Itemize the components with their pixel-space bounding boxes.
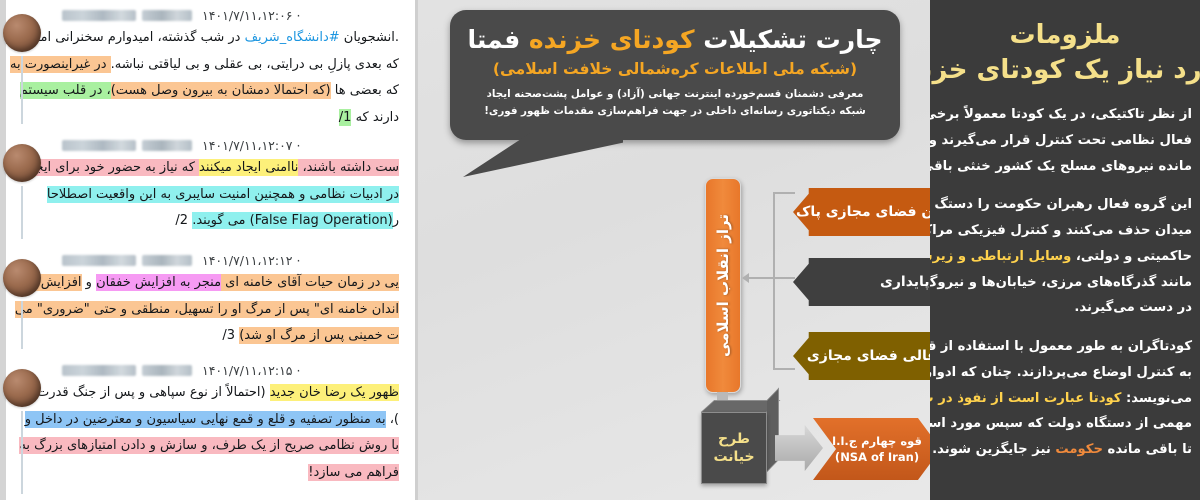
chart-header-banner: چارت تشکیلات کودتای خزنده فمتا (شبکه ملی… bbox=[450, 10, 900, 140]
cube-line2: خیانت bbox=[713, 448, 754, 466]
tweet-body: یی در زمان حیات آقای خامنه ای منجر به اف… bbox=[6, 268, 403, 350]
left-panel-title-line2: مورد نیاز یک کودتای خزنده bbox=[930, 53, 1200, 88]
banner-arrow-3-label: اعضای شورای عالی فضای مجازی bbox=[807, 348, 930, 364]
highlighted-text: ست داشته باشند، bbox=[298, 159, 399, 176]
highlighted-text: یی در زمان حیات آقای خامنه ای bbox=[221, 274, 399, 291]
banner-arrow-1-label: جمعیت توسعه‌گران فضای مجازی پاک bbox=[796, 204, 930, 220]
tweet-line: که بعضی ها (که احتمالا دمشان به بیرون وص… bbox=[6, 78, 399, 105]
bracket-bottom bbox=[773, 368, 795, 370]
tweet-text: که بعضی ها bbox=[331, 83, 399, 98]
tweet-header: ۱۴۰۱/۷/۱۱،۱۲:۰۷ · bbox=[6, 138, 403, 153]
highlighted-text: ، در قلب سیستم bbox=[20, 82, 111, 99]
chart-description-line2: شبکه دیکتاتوری رسانه‌ای داخلی در جهت فرا… bbox=[450, 103, 900, 120]
tweet-line: یی در زمان حیات آقای خامنه ای منجر به اف… bbox=[6, 270, 399, 297]
avatar[interactable] bbox=[3, 369, 41, 407]
paragraph-2-line-1: این گروه فعال رهبران حکومت را دستگ bbox=[930, 192, 1192, 218]
thread-connector-line bbox=[21, 301, 23, 349]
chevron-step-1-line1: قوه چهارم ج.ا.ا bbox=[832, 433, 922, 449]
paragraph-3-line-3: می‌نویسد: کودتا عبارت است از نفوذ در ب bbox=[930, 386, 1192, 412]
highlighted-text: ت خمینی پس از مرگ او شد) bbox=[239, 327, 399, 344]
tweet-timestamp: ۱۴۰۱/۷/۱۱،۱۲:۰۶ · bbox=[202, 8, 300, 23]
tweet-author-handle-redacted[interactable] bbox=[142, 140, 192, 151]
tweet-thread-panel: ۱۴۰۱/۷/۱۱،۱۲:۰۶ ·.انشجویان #دانشگاه_شریف… bbox=[0, 0, 415, 500]
banner-arrow-1: جمعیت توسعه‌گران فضای مجازی پاک bbox=[793, 188, 930, 236]
chart-title-part3: فمتا bbox=[467, 25, 520, 54]
tweet-author-name-redacted[interactable] bbox=[62, 365, 136, 376]
tweet-body: .انشجویان #دانشگاه_شریف در شب گذشته، امی… bbox=[6, 23, 403, 132]
tweet-item[interactable]: ۱۴۰۱/۷/۱۱،۱۲:۱۵ ·ظهور یک رضا خان جدید (ا… bbox=[0, 355, 407, 500]
tweet-line: ر(False Flag Operation) می گویند. 2/ bbox=[6, 208, 399, 235]
tweet-line: ظهور یک رضا خان جدید (احتمالاً از نوع سپ… bbox=[6, 380, 399, 407]
vertical-bar-label: تراز انقلاب اسلامی bbox=[714, 214, 732, 357]
bracket-vertical bbox=[773, 192, 775, 370]
highlighted-text: که نیاز به حضور خود برای ایجاد bbox=[26, 159, 199, 176]
thread-connector-line bbox=[21, 411, 23, 494]
bracket-mid bbox=[773, 277, 795, 279]
tweet-line: ست داشته باشند، ناامنی ایجاد میکنند که ن… bbox=[6, 155, 399, 182]
chart-description-line1: معرفی دشمنان قسم‌خورده اینترنت جهانی (آز… bbox=[450, 86, 900, 103]
highlighted-text: ظهور یک رضا خان جدید bbox=[270, 384, 399, 401]
paragraph-1: از نظر تاکتیکی، در یک کودتا معمولاً برخی… bbox=[930, 102, 1192, 179]
paragraph-3: کودتاگران به طور معمول با استفاده از قد … bbox=[930, 334, 1192, 463]
tweet-text: در شب گذشته، امیدوارم سخنرانی امروز در bbox=[6, 30, 245, 45]
tweet-line: )، به منظور تصفیه و قلع و قمع نهایی سیاس… bbox=[6, 407, 399, 434]
chevron-step-1-text: قوه چهارم ج.ا.ا (NSA of Iran) bbox=[832, 433, 922, 465]
p3-l3-plain: می‌نویسد: bbox=[1121, 391, 1192, 406]
tweet-text: و bbox=[82, 275, 97, 290]
chart-title: چارت تشکیلات کودتای خزنده فمتا bbox=[450, 24, 900, 55]
tweet-text: 3/ bbox=[222, 328, 239, 343]
highlighted-text: (که احتمالا دمشان به بیرون وصل هست) bbox=[111, 82, 331, 99]
tweet-timestamp: ۱۴۰۱/۷/۱۱،۱۲:۰۷ · bbox=[202, 138, 300, 153]
tweet-item[interactable]: ۱۴۰۱/۷/۱۱،۱۲:۰۷ ·ست داشته باشند، ناامنی … bbox=[0, 130, 407, 245]
chart-title-part1: چارت تشکیلات bbox=[695, 25, 883, 54]
paragraph-2-line-4: مانند گذرگاه‌های مرزی، خیابان‌ها و نیروگ bbox=[930, 270, 1192, 296]
banner-arrow-2-label: جبهه پایداری bbox=[880, 274, 930, 290]
p3-l5-b: نیز جایگزین شوند. bbox=[932, 442, 1055, 457]
highlighted-text: به منظور تصفیه و قلع و قمع نهایی سیاسیون… bbox=[25, 411, 386, 428]
highlighted-text: (False Flag Operation) می گویند. bbox=[192, 212, 393, 229]
tweet-author-handle-redacted[interactable] bbox=[142, 10, 192, 21]
tweet-body: ظهور یک رضا خان جدید (احتمالاً از نوع سپ… bbox=[6, 378, 403, 487]
paragraph-2-line-5: در دست می‌گیرند. bbox=[930, 295, 1192, 321]
tweet-line: دارند که 1/ bbox=[6, 105, 399, 132]
thread-connector-line bbox=[21, 56, 23, 124]
paragraph-3-line-5: تا باقی مانده حکومت نیز جایگزین شوند. bbox=[930, 437, 1192, 463]
tweet-author-name-redacted[interactable] bbox=[62, 140, 136, 151]
chart-panel: چارت تشکیلات کودتای خزنده فمتا (شبکه ملی… bbox=[415, 0, 930, 500]
tweet-timestamp: ۱۴۰۱/۷/۱۱،۱۲:۱۵ · bbox=[202, 363, 300, 378]
paragraph-2: این گروه فعال رهبران حکومت را دستگ میدان… bbox=[930, 192, 1192, 321]
tweet-header: ۱۴۰۱/۷/۱۱،۱۲:۰۶ · bbox=[6, 8, 403, 23]
hashtag-link[interactable]: #دانشگاه_شریف bbox=[245, 30, 340, 45]
tweet-author-handle-redacted[interactable] bbox=[142, 365, 192, 376]
tweet-author-handle-redacted[interactable] bbox=[142, 255, 192, 266]
chevron-step-1-line2: (NSA of Iran) bbox=[832, 449, 922, 465]
tweet-line: ت خمینی پس از مرگ او شد) 3/ bbox=[6, 323, 399, 350]
banner-arrow-3: اعضای شورای عالی فضای مجازی bbox=[793, 332, 930, 380]
tweet-text: ر bbox=[393, 213, 399, 228]
tweet-line: .انشجویان #دانشگاه_شریف در شب گذشته، امی… bbox=[6, 25, 399, 52]
tweet-author-name-redacted[interactable] bbox=[62, 10, 136, 21]
tweet-timestamp: ۱۴۰۱/۷/۱۱،۱۲:۱۲ · bbox=[202, 253, 300, 268]
paragraph-1-line-1: از نظر تاکتیکی، در یک کودتا معمولاً برخی bbox=[930, 102, 1192, 128]
p3-l5-a: تا باقی مانده bbox=[1103, 442, 1192, 457]
p3-highlight-yellow: کودتا عبارت است از نفوذ در ب bbox=[930, 391, 1121, 406]
p2-l3-plain: حاکمیتی و دولتی، bbox=[1071, 249, 1192, 264]
left-article-panel: ملزومات مورد نیاز یک کودتای خزنده از نظر… bbox=[930, 0, 1200, 500]
grey-chevron-arrow bbox=[775, 425, 823, 471]
cube-line1: طرح bbox=[713, 430, 754, 448]
tweet-text: )، bbox=[386, 412, 399, 427]
tweet-header: ۱۴۰۱/۷/۱۱،۱۲:۱۲ · bbox=[6, 253, 403, 268]
highlighted-text: با روش نظامی صریح از یک طرف، و سازش و دا… bbox=[19, 437, 399, 454]
left-panel-title-line1: ملزومات bbox=[930, 18, 1200, 53]
tweet-line: اندان خامنه ای" پس از مرگ او را تسهیل، م… bbox=[6, 297, 399, 324]
tweet-line: که بعدی پازلِ بی درایتی، بی عقلی و بی لی… bbox=[6, 52, 399, 79]
tweet-body: ست داشته باشند، ناامنی ایجاد میکنند که ن… bbox=[6, 153, 403, 235]
p3-highlight-orange: حکومت bbox=[1055, 442, 1103, 457]
highlighted-text: اندان خامنه ای" پس از مرگ او را تسهیل، م… bbox=[15, 301, 399, 318]
cube-text: طرح خیانت bbox=[713, 430, 754, 466]
tweet-item[interactable]: ۱۴۰۱/۷/۱۱،۱۲:۰۶ ·.انشجویان #دانشگاه_شریف… bbox=[0, 0, 407, 130]
infographic-page: ملزومات مورد نیاز یک کودتای خزنده از نظر… bbox=[0, 0, 1200, 500]
tweet-line: در ادبیات نظامی و همچنین امنیت سایبری به… bbox=[6, 182, 399, 209]
tweet-text: دارند که bbox=[351, 110, 399, 125]
tweet-text: که بعدی پازلِ بی درایتی، بی عقلی و بی لی… bbox=[111, 57, 399, 72]
chart-title-accent: کودتای خزنده bbox=[520, 25, 694, 54]
paragraph-3-line-4: مهمی از دستگاه دولت که سپس مورد استف bbox=[930, 411, 1192, 437]
tweet-text: .انشجویان bbox=[340, 30, 399, 45]
paragraph-1-line-3: مانده نیروهای مسلح یک کشور خنثی باقی bbox=[930, 154, 1192, 180]
arrow-into-orange-bar bbox=[743, 277, 773, 279]
banner-arrow-2: جبهه پایداری bbox=[793, 258, 930, 306]
tweet-line: با روش نظامی صریح از یک طرف، و سازش و دا… bbox=[6, 433, 399, 460]
tweet-text: (احتمالاً از نوع سپاهی و پس از جنگ قدرت … bbox=[21, 385, 270, 400]
highlighted-text: 1/ bbox=[339, 109, 352, 126]
avatar[interactable] bbox=[3, 259, 41, 297]
tweet-text: 2/ bbox=[175, 213, 192, 228]
p2-highlight-yellow: وسایل ارتباطی و زیرس bbox=[930, 249, 1071, 264]
panel-divider-left bbox=[415, 0, 418, 500]
tweet-author-name-redacted[interactable] bbox=[62, 255, 136, 266]
chevron-step-1: قوه چهارم ج.ا.ا (NSA of Iran) bbox=[813, 418, 930, 480]
paragraph-2-line-3: حاکمیتی و دولتی، وسایل ارتباطی و زیرس bbox=[930, 244, 1192, 270]
paragraph-3-line-2: به کنترل اوضاع می‌پردازند. چنان که ادوار bbox=[930, 360, 1192, 386]
paragraph-2-line-2: میدان حذف می‌کنند و کنترل فیزیکی مراک bbox=[930, 218, 1192, 244]
tweet-item[interactable]: ۱۴۰۱/۷/۱۱،۱۲:۱۲ ·یی در زمان حیات آقای خا… bbox=[0, 245, 407, 355]
chart-description: معرفی دشمنان قسم‌خورده اینترنت جهانی (آز… bbox=[450, 86, 900, 120]
highlighted-text: فراهم می سازد! bbox=[308, 464, 399, 481]
paragraph-1-line-2: فعال نظامی تحت کنترل قرار می‌گیرند و bbox=[930, 128, 1192, 154]
tweet-header: ۱۴۰۱/۷/۱۱،۱۲:۱۵ · bbox=[6, 363, 403, 378]
highlighted-text: در غیراینصورت به bbox=[10, 56, 111, 73]
avatar[interactable] bbox=[3, 144, 41, 182]
chart-subtitle: (شبکه ملی اطلاعات کره‌شمالی خلافت اسلامی… bbox=[450, 60, 900, 78]
thread-connector-line bbox=[21, 186, 23, 239]
avatar[interactable] bbox=[3, 14, 41, 52]
highlighted-text: منجر به افزایش خفقان bbox=[96, 274, 221, 291]
highlighted-text: ناامنی ایجاد میکنند bbox=[199, 159, 298, 176]
left-panel-body: از نظر تاکتیکی، در یک کودتا معمولاً برخی… bbox=[930, 102, 1200, 463]
betrayal-plan-cube: طرح خیانت bbox=[701, 412, 767, 484]
vertical-orange-bar: تراز انقلاب اسلامی bbox=[705, 178, 741, 393]
paragraph-3-line-1: کودتاگران به طور معمول با استفاده از قد bbox=[930, 334, 1192, 360]
tweet-line: فراهم می سازد! bbox=[6, 460, 399, 487]
bracket-top bbox=[773, 192, 795, 194]
highlighted-text: در ادبیات نظامی و همچنین امنیت سایبری به… bbox=[47, 186, 399, 203]
tweet-list: ۱۴۰۱/۷/۱۱،۱۲:۰۶ ·.انشجویان #دانشگاه_شریف… bbox=[0, 0, 407, 500]
